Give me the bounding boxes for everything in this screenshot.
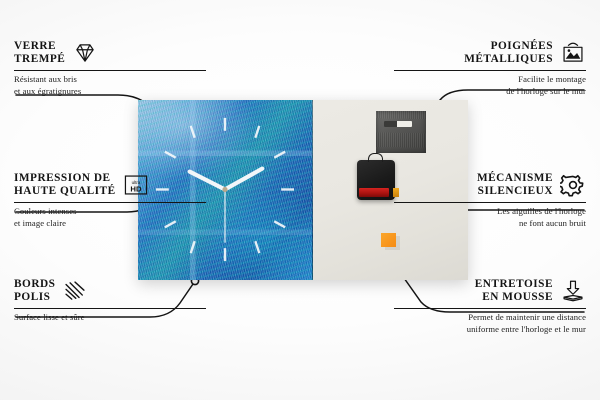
foam-spacer	[381, 233, 396, 247]
gear-icon	[560, 173, 586, 197]
feature-header: POIGNÉES MÉTALLIQUES	[394, 40, 586, 68]
clock-hour-hand	[190, 172, 225, 190]
feature-title: BORDS POLIS	[14, 278, 55, 304]
infographic-stage: VERRE TREMPÉ Résistant aux bris et aux é…	[0, 0, 600, 400]
feature-poignees-metalliques: POIGNÉES MÉTALLIQUES Facilite le montage…	[394, 40, 586, 98]
feature-description: Surface lisse et sûre	[14, 312, 206, 324]
feature-header: BORDS POLIS	[14, 278, 206, 306]
feature-header: VERRE TREMPÉ	[14, 40, 206, 68]
divider	[394, 202, 586, 203]
feature-title: IMPRESSION DE HAUTE QUALITÉ	[14, 172, 116, 198]
feature-title: MÉCANISME SILENCIEUX	[477, 172, 553, 198]
feature-bords-polis: BORDS POLIS Surface lisse et sûre	[14, 278, 206, 324]
divider	[14, 308, 206, 309]
clock-center-cap	[222, 187, 227, 192]
polished-edges-icon	[62, 279, 88, 303]
feature-title: POIGNÉES MÉTALLIQUES	[464, 40, 553, 66]
feature-title: ENTRETOISE EN MOUSSE	[475, 278, 553, 304]
picture-frame-hanger-icon	[560, 41, 586, 65]
feature-verre-trempe: VERRE TREMPÉ Résistant aux bris et aux é…	[14, 40, 206, 98]
clock-front-face	[138, 100, 313, 280]
feature-mecanisme-silencieux: MÉCANISME SILENCIEUX Les aiguilles de l'…	[394, 172, 586, 230]
foam-spacer-arrow-icon	[560, 279, 586, 303]
feature-header: ENTRETOISE EN MOUSSE	[394, 278, 586, 306]
feature-description: Permet de maintenir une distance uniform…	[394, 312, 586, 335]
divider	[14, 70, 206, 71]
feature-description: Résistant aux bris et aux égratignures	[14, 74, 206, 97]
feature-description: Les aiguilles de l'horloge ne font aucun…	[394, 206, 586, 229]
divider	[394, 308, 586, 309]
mechanism-hook	[368, 153, 383, 162]
clock-minute-hand	[225, 169, 262, 190]
clock-mechanism	[357, 160, 395, 200]
feature-description: Facilite le montage de l'horloge sur le …	[394, 74, 586, 97]
metal-hanger-plate	[376, 111, 426, 153]
feature-header: MÉCANISME SILENCIEUX	[394, 172, 586, 200]
feature-entretoise-en-mousse: ENTRETOISE EN MOUSSE Permet de maintenir…	[394, 278, 586, 336]
feature-title: VERRE TREMPÉ	[14, 40, 65, 66]
hanger-slot	[384, 121, 412, 127]
diamond-icon	[72, 41, 98, 65]
divider	[394, 70, 586, 71]
battery	[359, 188, 389, 197]
clock-face-graphics	[138, 100, 312, 279]
